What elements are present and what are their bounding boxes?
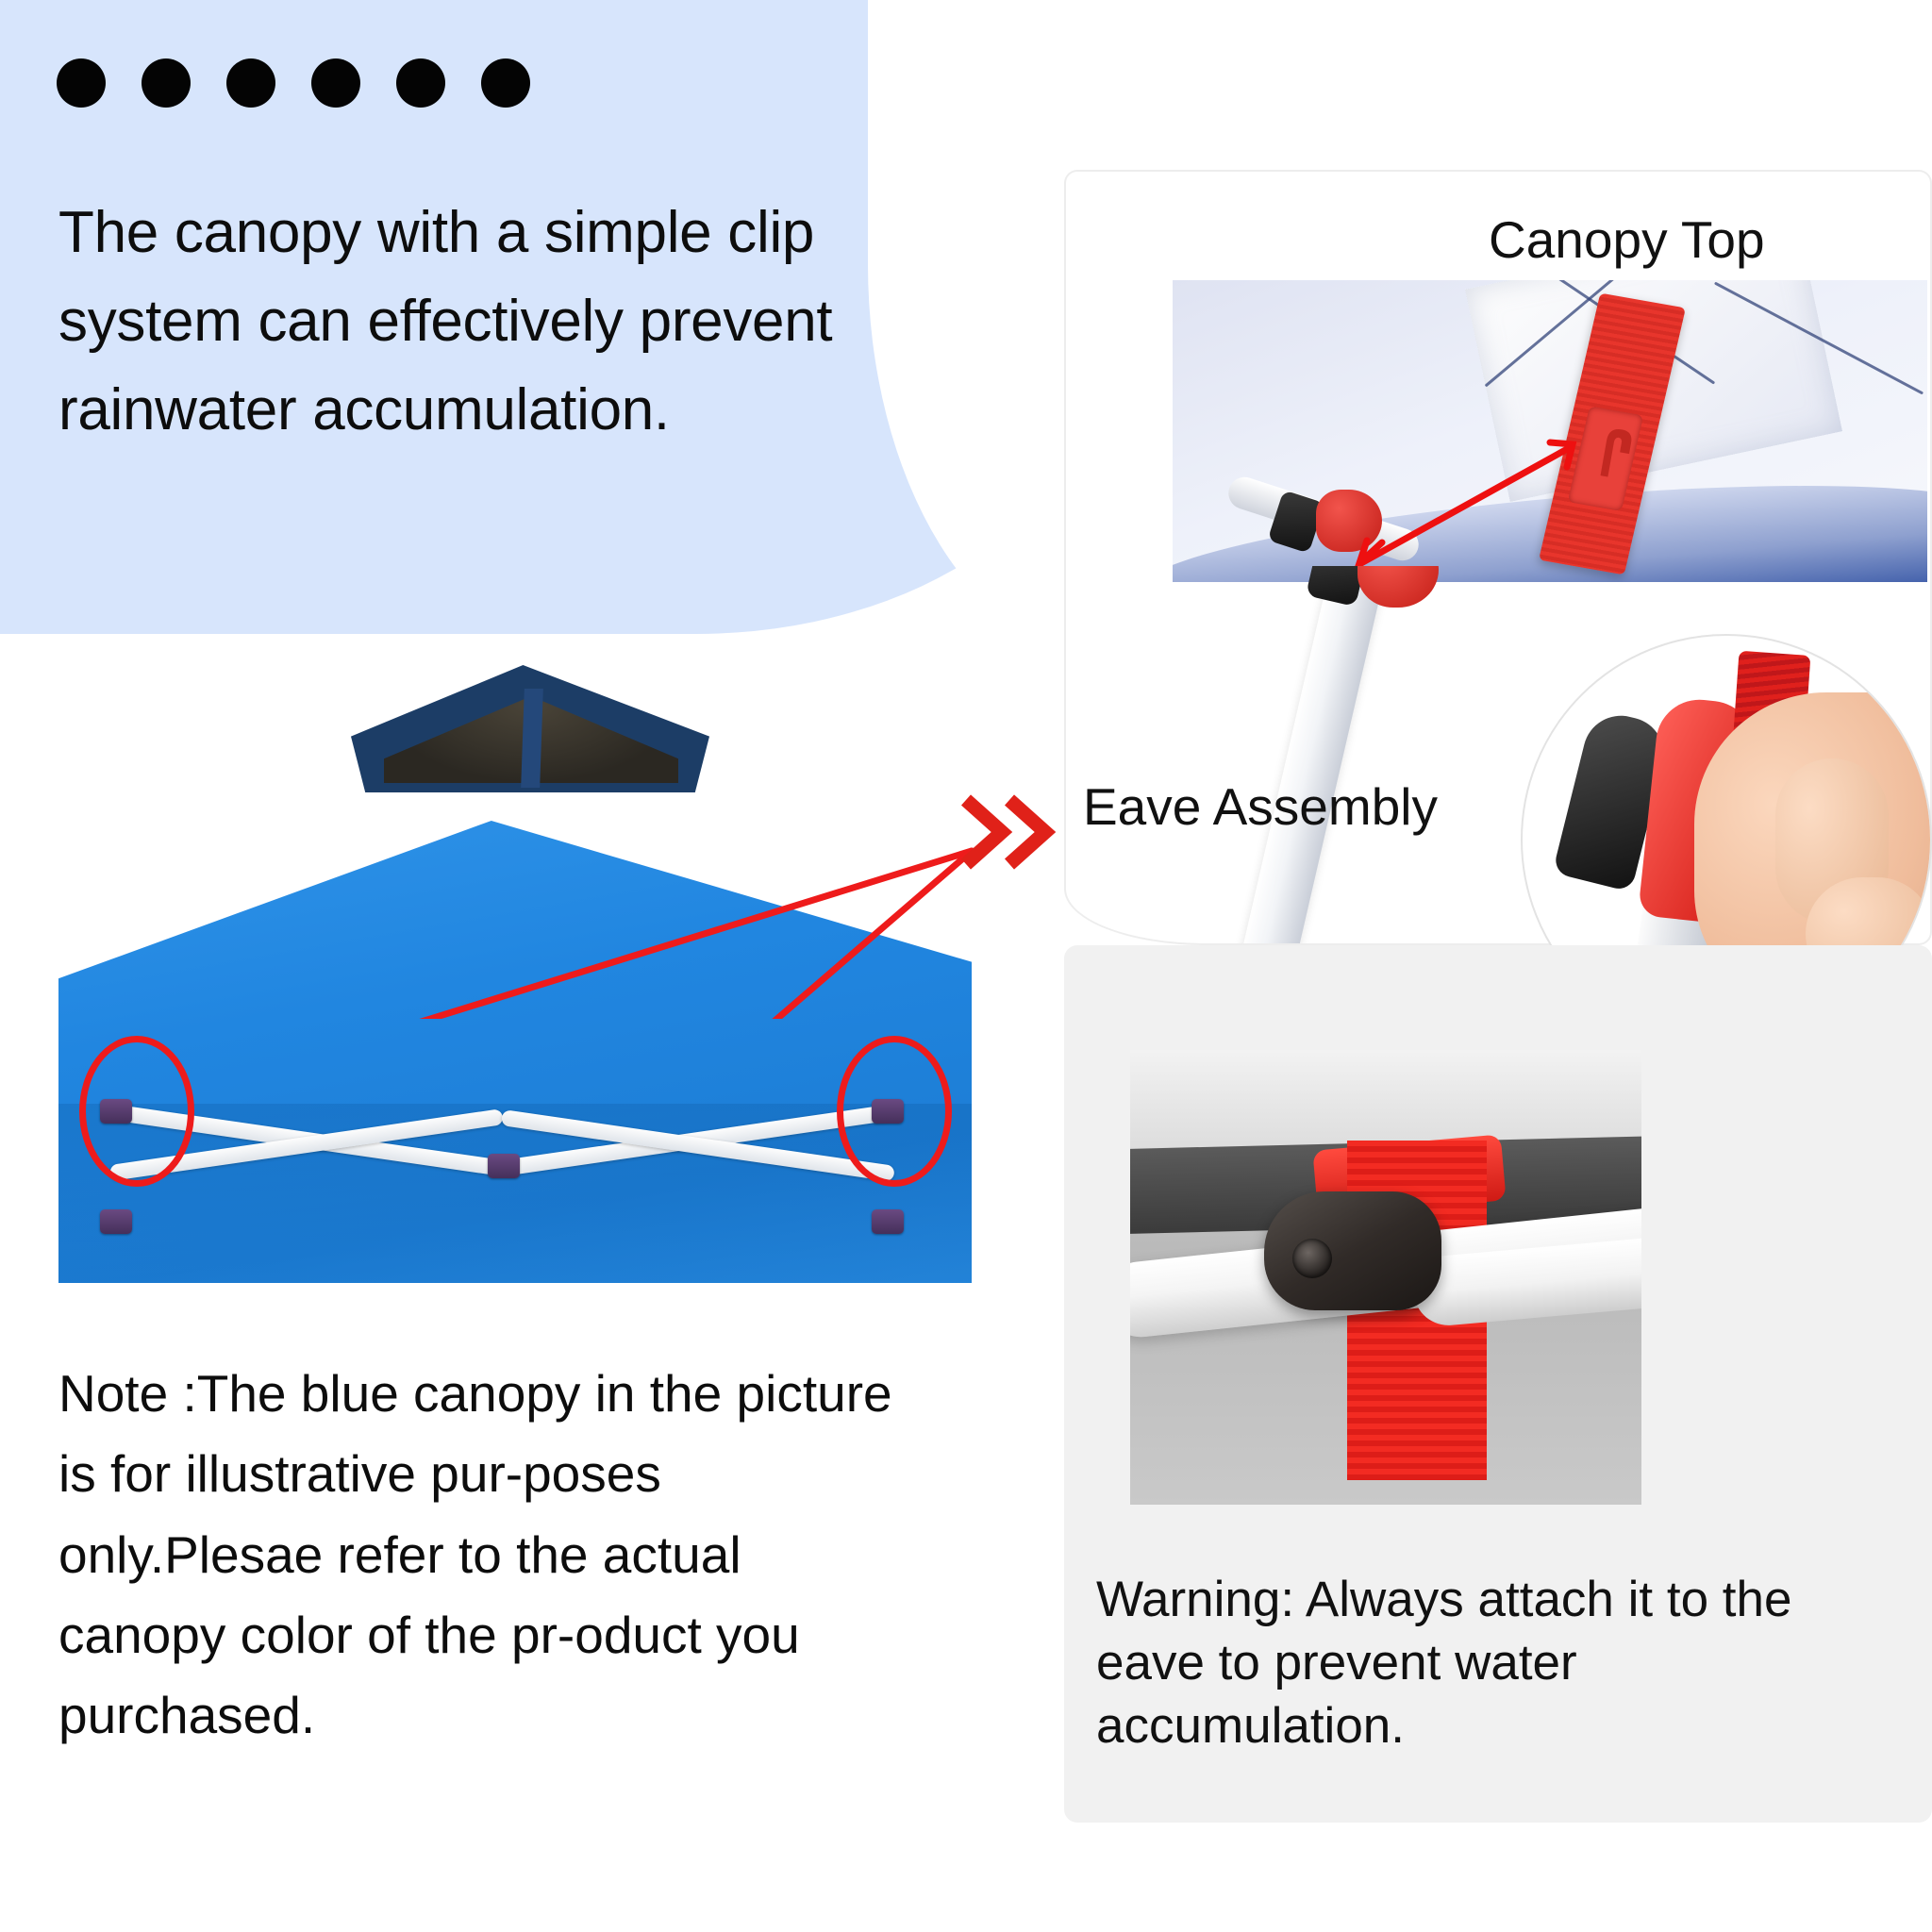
canopy-vent-rib	[521, 689, 543, 788]
intro-headline: The canopy with a simple clip system can…	[58, 189, 851, 456]
frame-pole	[1227, 566, 1399, 943]
warning-text: Warning: Always attach it to the eave to…	[1096, 1569, 1813, 1757]
canopy-underside-photo	[58, 660, 972, 1283]
bullet-dot-icon	[226, 58, 275, 108]
canopy-top-strap-photo	[1173, 280, 1927, 582]
right-clip-circle-marker	[837, 1036, 952, 1187]
left-clip-circle-marker	[79, 1036, 194, 1187]
bullet-dot-icon	[396, 58, 445, 108]
bullet-dot-icon	[57, 58, 106, 108]
poster-root: The canopy with a simple clip system can…	[0, 0, 1932, 1932]
frame-hub-bottom-right	[872, 1209, 904, 1234]
double-headed-arrow	[1173, 280, 1927, 582]
chevron-double-right-icon	[955, 785, 1058, 879]
frame-hub-bottom-left	[100, 1209, 132, 1234]
label-eave-assembly: Eave Assembly	[1083, 776, 1438, 837]
bullet-dot-icon	[142, 58, 191, 108]
clip-on-eave-photo	[1130, 1050, 1641, 1505]
label-canopy-top: Canopy Top	[1489, 209, 1765, 270]
black-clip-buckle	[1264, 1191, 1441, 1310]
frame-hub-center	[488, 1154, 520, 1178]
illustrative-note-text: Note :The blue canopy in the picture is …	[58, 1354, 908, 1756]
bullet-dot-icon	[311, 58, 360, 108]
clip-pivot-hole	[1292, 1239, 1332, 1278]
bullet-dot-icon	[481, 58, 530, 108]
bullet-dots-row	[57, 58, 530, 108]
